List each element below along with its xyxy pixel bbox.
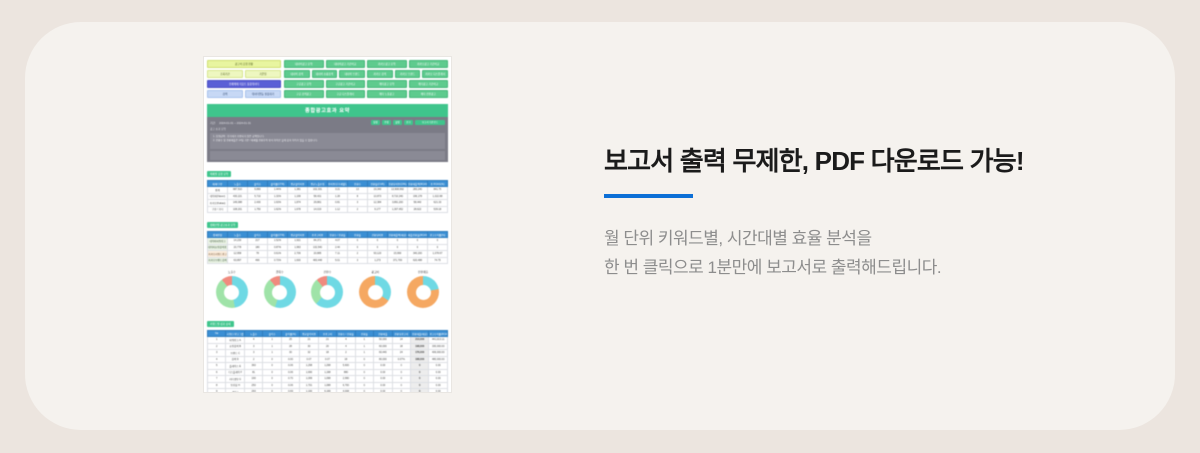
panel-notes: 1. 집행금액 : 부가세가 포함되지 않은 금액입니다. 2. 전환수 및 전… (210, 133, 445, 149)
table-cell: 6,199 (318, 389, 336, 394)
grid-row: 네이버광고 요약 네이버광고 기간비교 카카오광고 요약 카카오광고 기간비교 (284, 60, 448, 68)
table-cell: 9,177 (368, 206, 388, 213)
table-cell: 1,273 (368, 257, 388, 264)
note-line: 2. 전환수 및 전환매출은 14일 기준 / 매체별 전환추적 방식 차이로 … (213, 139, 442, 143)
table-cell: 371,709 (388, 257, 408, 264)
grid-cell[interactable]: 구글 디스플레이 (326, 90, 366, 98)
grid-cell[interactable]: 네이버광고 기간비교 (326, 60, 366, 68)
subcopy-line-1: 월 단위 키워드별, 시간대별 효율 분석을 (604, 224, 1124, 254)
table-cell: 1,600 (288, 257, 308, 264)
promo-headline: 보고서 출력 무제한, PDF 다운로드 가능! (604, 145, 1124, 178)
top-cell[interactable]: 기준일 (245, 70, 281, 78)
table-cell: 0 (392, 389, 410, 394)
period-value: 2024-01-01 ~ 2024-01-31 (219, 121, 251, 125)
table-cell: 2 (348, 206, 368, 213)
dashboard-screenshot: 광고비 집행 현황 조회기간 기준일 전체매체 리포트 통합데이터 검색 데이터… (203, 56, 452, 393)
table-cell: 0 (263, 389, 281, 394)
donut-ring (216, 276, 248, 308)
top-cell-integrated[interactable]: 전체매체 리포트 통합데이터 (207, 80, 281, 88)
panel-subtitle: 광고 효과 요약 (210, 127, 445, 131)
table-cell: 카카오브랜드검색 (208, 257, 228, 264)
dashboard-content: 광고비 집행 현황 조회기간 기준일 전체매체 리포트 통합데이터 검색 데이터… (204, 57, 451, 393)
donut-title: 클릭수 (264, 270, 296, 274)
table-cell: 466 (248, 257, 268, 264)
grid-cell[interactable]: 카카오광고 요약 (367, 60, 407, 68)
table-cell: 1,190 (300, 389, 318, 394)
table-cell: 108,201 (228, 206, 248, 213)
grid-cell[interactable]: 구글광고 요약 (284, 80, 324, 88)
table-row[interactable]: 카카오브랜드검색63,8974660.73%1,600483,4485.0131… (208, 257, 448, 264)
donut-title: 전환수 (311, 270, 343, 274)
table-row[interactable]: 구글 / 기타108,2011,7501.62%1,67814,0191.122… (208, 206, 448, 213)
donut-title: 광고비 (359, 270, 391, 274)
grid-cell[interactable]: 네이버 쇼핑검색 (312, 70, 338, 78)
table-cell: 0.69 (281, 389, 299, 394)
donut-ring (311, 276, 343, 308)
grid-cell[interactable]: 카카오 디스플레이 (422, 70, 448, 78)
table-cell: 63,897 (228, 257, 248, 264)
period-button-day[interactable]: 일별 (371, 120, 380, 126)
campaign-summary-table: 캠페인명 노출수 클릭수 클릭률(CTR) 평균클릭비용 총광고비용 전환수 /… (207, 231, 448, 264)
media-summary-table: 매체/구분 노출수 클릭수 클릭률(CTR) 평균클릭비용 평균노출순위 총비용… (207, 180, 448, 213)
keyword-detail-body: 1파워링크 A412521214150,00014210,000441,013.… (208, 337, 448, 394)
table-cell: 0.73% (268, 257, 288, 264)
grid-cell[interactable]: 카카오광고 기간비교 (409, 60, 449, 68)
table-cell: 구글 / 기타 (208, 206, 228, 213)
table-cell: 293 (244, 389, 262, 394)
donut-chart: 노출수 (216, 270, 248, 308)
top-left-row: 검색 데이터연동 설정하기 (207, 90, 281, 98)
donut-ring (359, 276, 391, 308)
table-cell: 539.18 (428, 206, 448, 213)
dashboard-filter-panel: 기간 2024-01-01 ~ 2024-01-31 일별 주별 월별 분기 보… (207, 117, 448, 162)
subcopy-line-2: 한 번 클릭으로 1분만에 보고서로 출력해드립니다. (604, 253, 1124, 283)
donut-ring (264, 276, 296, 308)
grid-cell[interactable]: 메타 노출광고 (367, 90, 407, 98)
report-download-button[interactable]: 보고서 다운로드 (415, 120, 445, 126)
table-cell: 1,307,452 (388, 206, 408, 213)
table-cell: 0 (410, 389, 428, 394)
data-link-button[interactable]: 데이터연동 설정하기 (245, 90, 281, 98)
grid-cell[interactable]: 카카오 검색 (367, 70, 393, 78)
grid-row: 네이버 검색 네이버 쇼핑검색 네이버 브랜드 카카오 검색 카카오 브랜드 카… (284, 70, 448, 78)
period-label: 기간 (210, 121, 215, 125)
grid-cell[interactable]: 카카오 브랜드 (395, 70, 421, 78)
filter-row: 기간 2024-01-01 ~ 2024-01-31 일별 주별 월별 분기 보… (210, 119, 445, 126)
dashboard-title-bar: 종합광고효과 요약 (207, 104, 448, 117)
donut-chart: 클릭수 (264, 270, 296, 308)
donut-chart: 전환매출 (407, 270, 439, 308)
accent-bar (604, 194, 693, 198)
table-cell: 1,678 (288, 206, 308, 213)
table-row[interactable]: 9제휴 I29300.691,1906,1994,00800.00000.00 (208, 389, 448, 394)
top-left-controls: 광고비 집행 현황 조회기간 기준일 전체매체 리포트 통합데이터 검색 데이터… (207, 60, 281, 98)
donut-chart-row: 노출수클릭수전환수광고비전환매출 (204, 264, 451, 312)
table-cell: 5.01 (328, 257, 348, 264)
table-cell: 14,019 (308, 206, 328, 213)
donut-chart: 광고비 (359, 270, 391, 308)
grid-cell[interactable]: 메타광고 요약 (367, 80, 407, 88)
grid-cell[interactable]: 메타광고 기간비교 (409, 80, 449, 88)
campaign-summary-body: 네이버파워링크14,2302171.52%1,92184,3714.070000… (208, 238, 448, 264)
donut-title: 노출수 (216, 270, 248, 274)
donut-chart: 전환수 (311, 270, 343, 308)
table-cell: 0.00 (374, 389, 392, 394)
top-cell[interactable]: 조회기간 (207, 70, 243, 78)
promo-subcopy: 월 단위 키워드별, 시간대별 효율 분석을 한 번 클릭으로 1분만에 보고서… (604, 224, 1124, 284)
table-cell: 620,488 (408, 257, 428, 264)
grid-cell[interactable]: 네이버 브랜드 (339, 70, 365, 78)
period-button-month[interactable]: 월별 (393, 120, 402, 126)
table-cell: 1,750 (248, 206, 268, 213)
table-cell: 4,008 (337, 389, 355, 394)
table-cell: 28,622 (408, 206, 428, 213)
top-left-row: 조회기간 기준일 (207, 70, 281, 78)
dashboard-top-panel: 광고비 집행 현황 조회기간 기준일 전체매체 리포트 통합데이터 검색 데이터… (204, 57, 451, 101)
table-cell: 74.75 (428, 257, 448, 264)
grid-row: 구글 검색광고 구글 디스플레이 메타 노출광고 메타 전환광고 (284, 90, 448, 98)
donut-title: 전환매출 (407, 270, 439, 274)
period-button-quarter[interactable]: 분기 (404, 120, 413, 126)
grid-cell[interactable]: 네이버광고 요약 (284, 60, 324, 68)
section-tag-media: 매체별 집행 요약 (207, 171, 231, 177)
keyword-detail-table: No 키워드/광고그룹 노출수 클릭수 클릭률(%) 평균클릭비용 총광고비 전… (207, 330, 448, 393)
promo-banner: 광고비 집행 현황 조회기간 기준일 전체매체 리포트 통합데이터 검색 데이터… (0, 0, 1200, 453)
media-summary-body: 합계687,5109,8901.44%1,381102,3313.211319,… (208, 187, 448, 213)
grid-row: 구글광고 요약 구글광고 기간비교 메타광고 요약 메타광고 기간비교 (284, 80, 448, 88)
period-buttons: 일별 주별 월별 분기 보고서 다운로드 (371, 120, 445, 126)
top-right-grid: 네이버광고 요약 네이버광고 기간비교 카카오광고 요약 카카오광고 기간비교 … (284, 60, 448, 98)
grid-cell[interactable]: 네이버 검색 (284, 70, 310, 78)
section-tag-keyword: 키워드별 성과 상세 (207, 321, 234, 327)
promo-copy: 보고서 출력 무제한, PDF 다운로드 가능! 월 단위 키워드별, 시간대별… (604, 145, 1124, 283)
grid-cell[interactable]: 구글 검색광고 (284, 90, 324, 98)
table-cell: 0.00 (429, 389, 448, 394)
table-cell: 483,448 (308, 257, 328, 264)
search-button[interactable]: 검색 (207, 90, 243, 98)
panel-footer (210, 151, 445, 160)
grid-cell[interactable]: 구글광고 기간비교 (326, 80, 366, 88)
table-cell: 0 (355, 389, 373, 394)
table-cell: 9 (208, 389, 226, 394)
table-cell: 1.62% (268, 206, 288, 213)
table-cell: 제휴 I (226, 389, 244, 394)
section-tag-campaign: 캠페인별 광고효과 요약 (207, 222, 238, 228)
table-cell: 3 (348, 257, 368, 264)
table-cell: 1.12 (328, 206, 348, 213)
donut-ring (407, 276, 439, 308)
top-cell[interactable]: 광고비 집행 현황 (207, 60, 281, 68)
period-button-week[interactable]: 주별 (382, 120, 391, 126)
grid-cell[interactable]: 메타 전환광고 (409, 90, 449, 98)
